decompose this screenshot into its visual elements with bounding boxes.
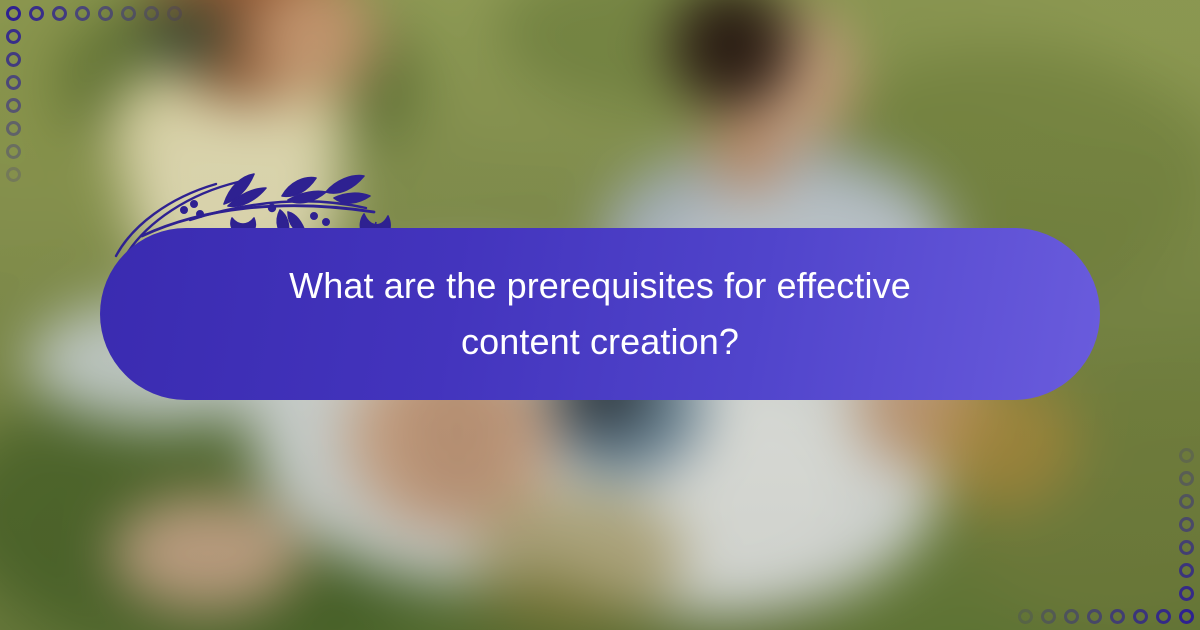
decorative-dot [1064, 609, 1079, 624]
question-card: What are the prerequisites for effective… [0, 0, 1200, 630]
decorative-dot [1179, 517, 1194, 532]
decorative-dot [6, 75, 21, 90]
decorative-dots-bottom-right [1010, 440, 1194, 624]
decorative-dot [1179, 563, 1194, 578]
decorative-dot [121, 6, 136, 21]
decorative-dot [6, 167, 21, 182]
decorative-dot [29, 6, 44, 21]
decorative-dot [6, 29, 21, 44]
decorative-dot [167, 6, 182, 21]
decorative-dots-top-left [6, 6, 190, 190]
decorative-dot [1087, 609, 1102, 624]
decorative-dot [1133, 609, 1148, 624]
decorative-dot [1179, 471, 1194, 486]
decorative-dot [1041, 609, 1056, 624]
decorative-dot [1179, 540, 1194, 555]
decorative-dot [1110, 609, 1125, 624]
decorative-dot [1179, 609, 1194, 624]
decorative-dot [6, 98, 21, 113]
decorative-dot [98, 6, 113, 21]
decorative-dot [75, 6, 90, 21]
question-banner: What are the prerequisites for effective… [100, 228, 1100, 400]
decorative-dot [1179, 448, 1194, 463]
decorative-dot [1179, 494, 1194, 509]
decorative-dot [52, 6, 67, 21]
decorative-dot [144, 6, 159, 21]
decorative-dot [1018, 609, 1033, 624]
decorative-dot [6, 121, 21, 136]
question-text: What are the prerequisites for effective… [250, 258, 950, 370]
decorative-dot [6, 52, 21, 67]
decorative-dot [6, 144, 21, 159]
decorative-dot [6, 6, 21, 21]
decorative-dot [1179, 586, 1194, 601]
decorative-dot [1156, 609, 1171, 624]
